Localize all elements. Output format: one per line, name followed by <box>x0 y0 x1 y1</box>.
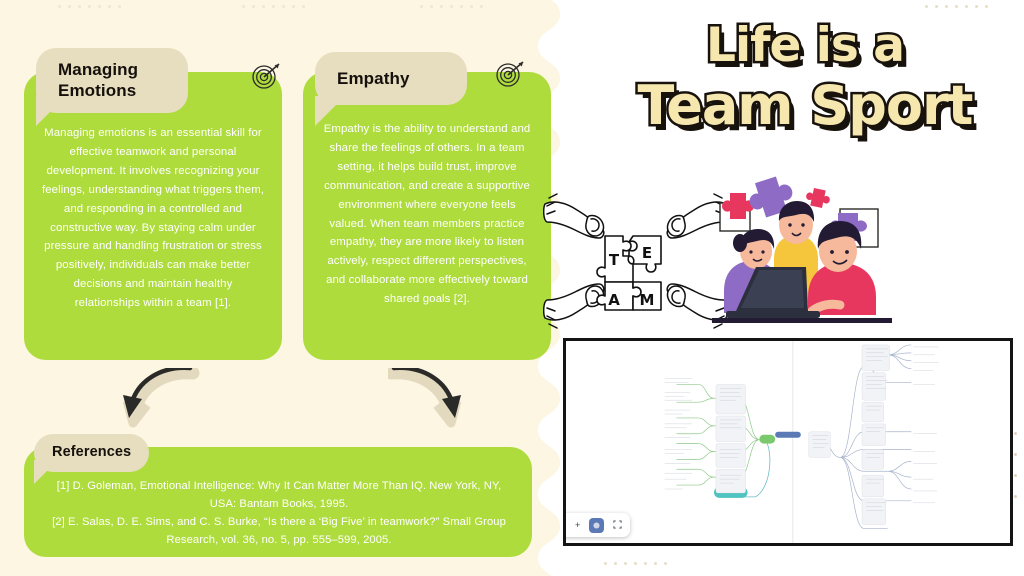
puzzle-letter: A <box>608 291 620 309</box>
page-title: Life is a Team Sport <box>586 22 1024 162</box>
title-line-1: Life is a <box>586 22 1024 69</box>
dot-row-decoration <box>242 5 305 8</box>
mindmap-canvas[interactable] <box>566 341 1010 546</box>
card-tab-empathy[interactable]: Empathy <box>315 52 467 105</box>
infographic-canvas: Managing emotions is an essential skill … <box>0 0 1024 576</box>
title-line-2: Team Sport <box>586 79 1024 133</box>
dot-row-decoration <box>604 562 667 565</box>
three-people-at-laptop-illustration <box>712 163 892 328</box>
pointer-tool-icon[interactable] <box>589 518 604 533</box>
curved-arrow-down-left-icon <box>122 368 202 440</box>
target-dart-icon <box>494 58 526 90</box>
card-tab-label-line1: Managing <box>58 59 166 80</box>
dot-row-decoration <box>420 5 483 8</box>
dot-row-decoration <box>925 5 988 8</box>
dot-row-decoration <box>58 5 121 8</box>
card-tab-label: Empathy <box>337 68 445 89</box>
four-hands-team-puzzle-illustration: T E A M <box>543 186 728 336</box>
references-tab[interactable]: References <box>34 434 149 472</box>
references-tab-label: References <box>52 444 131 460</box>
card-tab-managing-emotions[interactable]: Managing Emotions <box>36 48 188 113</box>
target-dart-icon <box>250 60 282 92</box>
reference-item: [1] D. Goleman, Emotional Intelligence: … <box>46 477 512 513</box>
mindmap-node-blue <box>775 432 801 438</box>
puzzle-letter: E <box>642 244 652 262</box>
puzzle-letter: M <box>640 291 655 309</box>
mindmap-zoom-toolbar[interactable]: 80% + <box>563 513 630 537</box>
reference-item: [2] E. Salas, D. E. Sims, and C. S. Burk… <box>46 513 512 549</box>
zoom-level-label: 80% <box>563 522 566 529</box>
mindmap-screenshot-panel[interactable]: 80% + <box>563 338 1013 546</box>
fit-screen-icon[interactable] <box>613 520 622 531</box>
card-tab-label-line2: Emotions <box>58 80 166 101</box>
mindmap-node-green <box>759 435 775 444</box>
zoom-in-button[interactable]: + <box>575 521 580 530</box>
puzzle-letter: T <box>609 251 620 269</box>
curved-arrow-down-right-icon <box>388 368 468 440</box>
